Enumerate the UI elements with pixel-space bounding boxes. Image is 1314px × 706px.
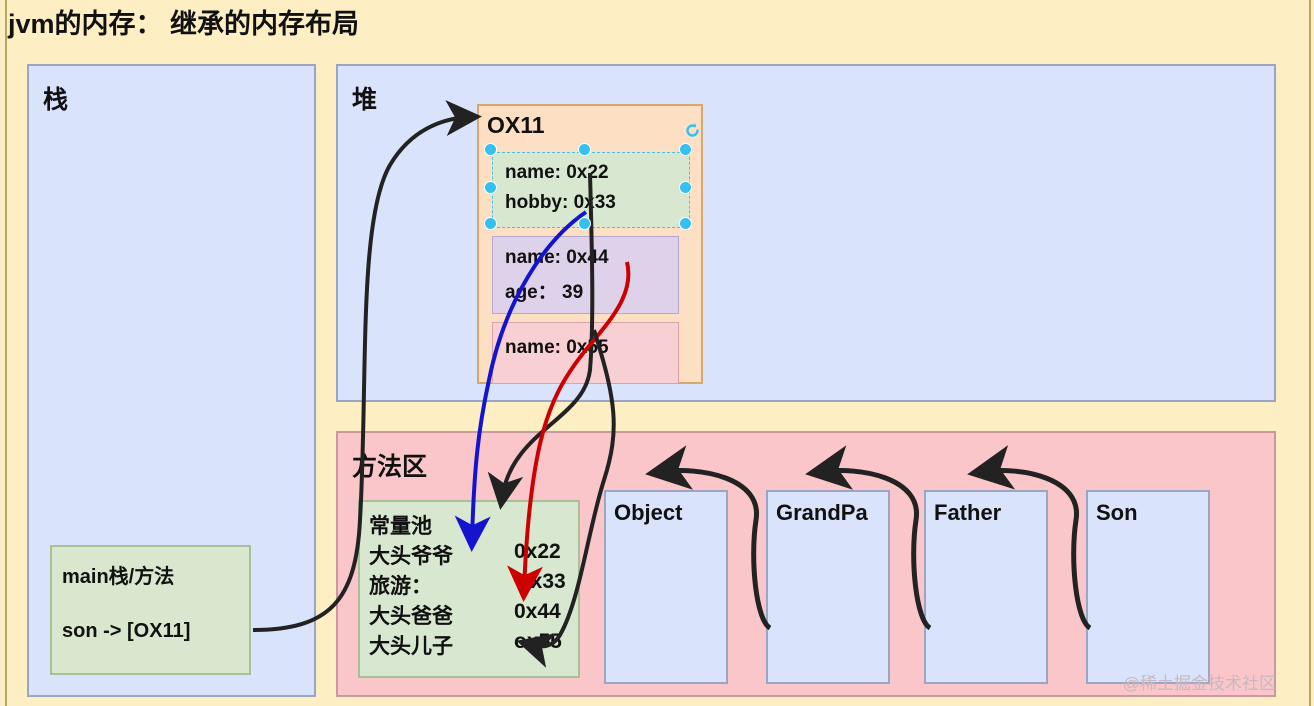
selection-handle-n[interactable] [578,143,591,156]
constant-pool-entry-value: 0x44 [514,600,561,624]
constant-pool-entry-value: 0x33 [519,570,566,594]
class-box-name: GrandPa [776,500,868,526]
selection-handle-w[interactable] [484,181,497,194]
main-frame-variable: son -> [OX11] [62,620,190,643]
class-box-grandpa[interactable]: GrandPa [766,490,890,684]
class-box-name: Father [934,500,1001,526]
field-line: name: 0x44 [505,247,609,269]
selection-handle-se[interactable] [679,217,692,230]
class-box-name: Son [1096,500,1138,526]
field-line: age： 39 [505,277,583,304]
region-method-area-label: 方法区 [352,447,427,483]
constant-pool-entry: 大头爸爸 0x44 [369,600,453,630]
object-field-group-father[interactable]: name: 0x44 age： 39 [492,236,679,314]
region-heap-label: 堆 [352,80,377,116]
constant-pool-box[interactable]: 常量池 大头爷爷 0x22 旅游： 0x33 大头爸爸 0x44 大头儿子 ox… [358,500,580,678]
selection-handle-e[interactable] [679,181,692,194]
watermark: @稀土掘金技术社区 [1123,669,1276,694]
region-stack-label: 栈 [43,80,68,116]
constant-pool-entry: 大头儿子 ox55 [369,630,453,660]
selection-handle-s[interactable] [578,217,591,230]
class-box-son[interactable]: Son [1086,490,1210,684]
constant-pool-entry-key: 大头爷爷 [369,540,453,570]
constant-pool-entry: 旅游： 0x33 [369,570,432,600]
class-box-name: Object [614,500,682,526]
field-line: name: 0x22 [505,162,609,184]
main-stack-frame-box[interactable]: main栈/方法 son -> [OX11] [50,545,251,675]
constant-pool-entry-value: ox55 [514,630,562,654]
heap-object-address: OX11 [487,112,545,139]
left-edge-strip [0,0,7,706]
field-line: hobby: 0x33 [505,192,616,214]
constant-pool-entry-key: 旅游： [369,570,432,600]
field-line: name: 0x55 [505,337,609,359]
diagram-canvas: jvm的内存： 继承的内存布局 栈 main栈/方法 son -> [OX11]… [0,0,1314,706]
class-box-father[interactable]: Father [924,490,1048,684]
constant-pool-entry: 大头爷爷 0x22 [369,540,453,570]
selection-handle-sw[interactable] [484,217,497,230]
selection-handle-ne[interactable] [679,143,692,156]
selection-handle-nw[interactable] [484,143,497,156]
main-frame-title: main栈/方法 [62,560,174,589]
right-edge-strip [1309,0,1314,706]
rotate-handle-icon[interactable] [684,122,701,139]
constant-pool-title: 常量池 [369,510,432,540]
object-field-group-grandpa[interactable]: name: 0x22 hobby: 0x33 [492,152,690,228]
constant-pool-entry-value: 0x22 [514,540,561,564]
constant-pool-entry-key: 大头儿子 [369,630,453,660]
page-title: jvm的内存： 继承的内存布局 [8,2,359,41]
object-field-group-son[interactable]: name: 0x55 [492,322,679,384]
class-box-object[interactable]: Object [604,490,728,684]
constant-pool-entry-key: 大头爸爸 [369,600,453,630]
